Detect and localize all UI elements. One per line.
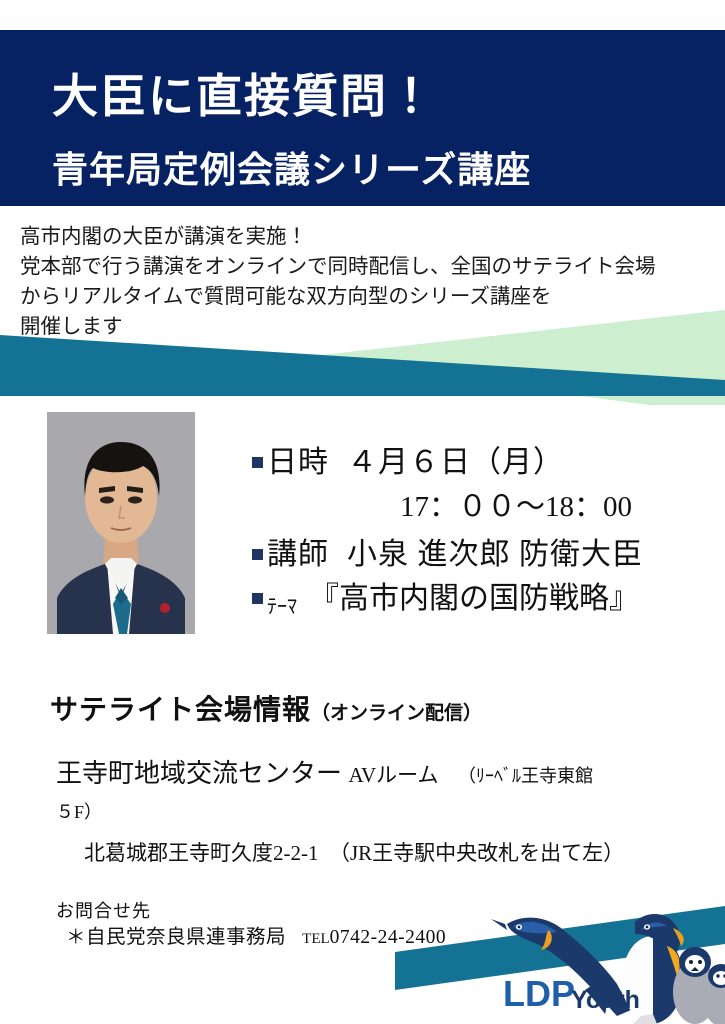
speaker-label: 講師 [267,536,329,574]
datetime-value: ４月６日（月） [347,444,564,482]
contact-asterisk: ＊ [66,927,86,948]
intro-line-3: からリアルタイムで質問可能な双方向型のシリーズ講座を [20,282,710,312]
venue-name-block: 王寺町地域交流センター AVルーム （ﾘｰﾍﾞﾙ王寺東館 ５F） [56,756,696,830]
speaker-portrait [47,412,195,634]
page-subtitle: 青年局定例会議シリーズ講座 [52,152,531,188]
square-bullet-icon [252,549,263,560]
contact-block: お問合せ先 ＊自民党奈良県連事務局 TEL0742-24-2400 [56,898,446,953]
contact-details: ＊自民党奈良県連事務局 TEL0742-24-2400 [66,924,446,953]
contact-organization: 自民党奈良県連事務局 [86,927,286,948]
logo-text-youth: Youth [571,986,640,1014]
contact-label: お問合せ先 [56,898,446,924]
detail-row-theme: ﾃｰﾏ 『高市内閣の国防戦略』 [252,580,712,626]
page-title: 大臣に直接質問！ [52,74,436,120]
speaker-value: 小泉 進次郎 防衛大臣 [347,536,643,574]
poster-root: 大臣に直接質問！ 青年局定例会議シリーズ講座 高市内閣の大臣が講演を実施！ 党本… [0,0,725,1024]
venue-heading-sub: （オンライン配信） [311,703,482,724]
venue-heading: サテライト会場情報（オンライン配信） [50,688,482,728]
tel-number: 0742-24-2400 [330,927,447,948]
intro-line-2: 党本部で行う講演をオンラインで同時配信し、全国のサテライト会場 [20,252,710,282]
venue-name-text: 王寺町地域交流センター [56,759,342,788]
detail-row-datetime: 日時 ４月６日（月） [252,444,712,482]
venue-note-cont: ５F） [56,794,696,830]
logo-text-ldp: LDP [503,973,575,1014]
venue-note-text: （ﾘｰﾍﾞﾙ王寺東館 [458,766,593,786]
square-bullet-icon [252,457,263,468]
venue-heading-main: サテライト会場情報 [50,695,311,726]
square-bullet-icon [252,593,263,604]
event-details: 日時 ４月６日（月） 17：００〜18：00 講師 小泉 進次郎 防衛大臣 ﾃｰ… [252,444,712,632]
intro-paragraph: 高市内閣の大臣が講演を実施！ 党本部で行う講演をオンラインで同時配信し、全国のサ… [20,222,710,342]
portrait-illustration [47,412,195,634]
theme-label: ﾃｰﾏ [267,588,297,626]
datetime-label: 日時 [267,444,329,482]
detail-row-speaker: 講師 小泉 進次郎 防衛大臣 [252,536,712,574]
intro-line-1: 高市内閣の大臣が講演を実施！ [20,222,710,252]
venue-address: 北葛城郡王寺町久度2-2-1 （JR王寺駅中央改札を出て左） [84,838,624,868]
tel-label: TEL [302,931,330,947]
venue-room-text: AVルーム [349,763,439,787]
intro-line-4: 開催します [20,312,710,342]
theme-value: 『高市内閣の国防戦略』 [309,580,639,618]
datetime-time: 17：００〜18：00 [400,488,712,526]
